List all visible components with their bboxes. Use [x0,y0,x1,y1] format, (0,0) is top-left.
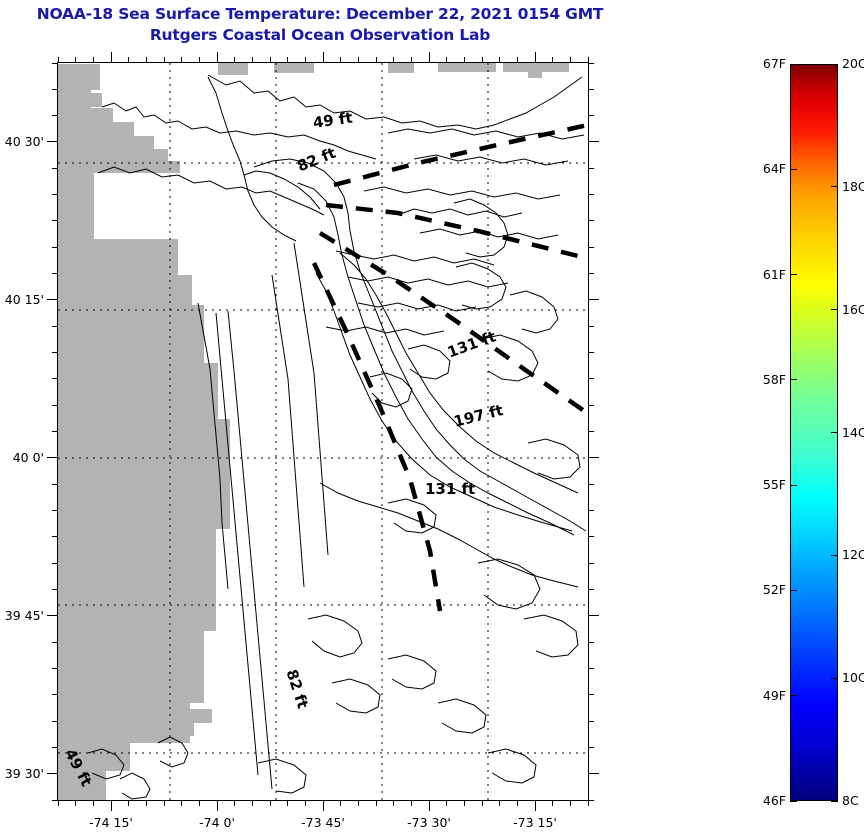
y-axis-right-tick [588,747,594,748]
x-axis-top-tick [270,57,271,63]
x-axis-top-tick [181,57,182,63]
y-axis-right-tick [588,220,594,221]
title-line-1: NOAA-18 Sea Surface Temperature: Decembe… [0,4,640,25]
y-axis-minor-tick [52,800,58,801]
y-axis-minor-tick [52,168,58,169]
x-axis-major-tick [323,800,324,811]
colorbar-celsius-tick [831,432,838,433]
y-axis-right-tick [588,115,594,116]
y-axis-right-tick [588,615,599,616]
x-axis-minor-tick [75,800,76,806]
y-axis-minor-tick [52,352,58,353]
y-axis-minor-tick [52,247,58,248]
x-axis-top-tick [393,57,394,63]
y-axis-minor-tick [52,115,58,116]
y-axis-minor-tick [52,273,58,274]
colorbar-fahrenheit-label: 55F [750,477,786,492]
x-axis-top-tick [570,57,571,63]
x-axis-top-tick [535,52,536,63]
y-axis-right-tick [588,536,594,537]
x-axis-minor-tick [446,800,447,806]
y-axis-minor-tick [52,220,58,221]
y-axis-right-tick [588,168,594,169]
y-axis-minor-tick [52,536,58,537]
y-axis-tick-label: 40 15' [0,292,44,307]
x-axis-minor-tick [411,800,412,806]
colorbar-fahrenheit-tick [790,274,797,275]
y-axis-right-tick [588,484,594,485]
y-axis-minor-tick [52,405,58,406]
colorbar-fahrenheit-tick [790,801,797,802]
x-axis-minor-tick [199,800,200,806]
y-axis-right-tick [588,668,594,669]
map-plot-area[interactable]: 49 ft 82 ft 131 ft 197 ft 131 ft 82 ft 4… [57,62,589,801]
x-axis-tick-label: -73 45' [278,815,368,830]
y-axis-minor-tick [52,668,58,669]
y-axis-minor-tick [52,89,58,90]
x-axis-top-tick [323,52,324,63]
x-axis-top-tick [376,57,377,63]
x-axis-minor-tick [376,800,377,806]
colorbar-celsius-label: 16C [842,302,864,317]
y-axis-major-tick [47,615,58,616]
x-axis-top-tick [164,57,165,63]
x-axis-minor-tick [393,800,394,806]
colorbar-celsius-tick [831,186,838,187]
colorbar-fahrenheit-label: 58F [750,372,786,387]
x-axis-minor-tick [552,800,553,806]
x-axis-top-tick [482,57,483,63]
x-axis-minor-tick [146,800,147,806]
y-axis-tick-label: 39 30' [0,766,44,781]
x-axis-tick-label: -74 0' [172,815,262,830]
colorbar-celsius-label: 14C [842,425,864,440]
y-axis-minor-tick [52,747,58,748]
y-axis-right-tick [588,378,594,379]
y-axis-right-tick [588,589,594,590]
x-axis-minor-tick [234,800,235,806]
y-axis-right-tick [588,457,599,458]
x-axis-minor-tick [128,800,129,806]
x-axis-top-tick [411,57,412,63]
y-axis-right-tick [588,563,594,564]
x-axis-top-tick [128,57,129,63]
colorbar-fahrenheit-tick [790,379,797,380]
y-axis-minor-tick [52,431,58,432]
y-axis-minor-tick [52,63,58,64]
x-axis-top-tick [252,57,253,63]
y-axis-right-tick [588,352,594,353]
x-axis-top-tick [358,57,359,63]
colorbar-fahrenheit-label: 49F [750,688,786,703]
y-axis-right-tick [588,194,594,195]
colorbar-fahrenheit-label: 64F [750,161,786,176]
x-axis-minor-tick [517,800,518,806]
y-axis-tick-label: 40 30' [0,134,44,149]
x-axis-top-tick [429,52,430,63]
y-axis-major-tick [47,457,58,458]
y-axis-major-tick [47,299,58,300]
y-axis-minor-tick [52,194,58,195]
y-axis-right-tick [588,800,594,801]
map-coastline-and-contours [58,63,588,800]
x-axis-top-tick [199,57,200,63]
y-axis-minor-tick [52,694,58,695]
x-axis-minor-tick [270,800,271,806]
y-axis-right-tick [588,510,594,511]
x-axis-top-tick [340,57,341,63]
x-axis-top-tick [305,57,306,63]
y-axis-right-tick [588,89,594,90]
x-axis-minor-tick [340,800,341,806]
y-axis-minor-tick [52,721,58,722]
y-axis-tick-label: 40 0' [0,450,44,465]
x-axis-top-tick [234,57,235,63]
x-axis-minor-tick [588,800,589,806]
y-axis-right-tick [588,773,599,774]
colorbar-celsius-label: 20C [842,56,864,71]
colorbar-celsius-label: 18C [842,179,864,194]
colorbar-celsius-tick [831,678,838,679]
x-axis-minor-tick [93,800,94,806]
y-axis-right-tick [588,63,594,64]
x-axis-tick-label: -74 15' [66,815,156,830]
x-axis-top-tick [287,57,288,63]
colorbar-fahrenheit-tick [790,169,797,170]
colorbar-fahrenheit-tick [790,695,797,696]
colorbar-celsius-tick [831,801,838,802]
x-axis-minor-tick [482,800,483,806]
x-axis-top-tick [499,57,500,63]
y-axis-minor-tick [52,484,58,485]
y-axis-minor-tick [52,642,58,643]
y-axis-right-tick [588,141,599,142]
x-axis-minor-tick [358,800,359,806]
colorbar-fahrenheit-label: 52F [750,582,786,597]
y-axis-right-tick [588,694,594,695]
colorbar-celsius-label: 12C [842,547,864,562]
x-axis-top-tick [111,52,112,63]
colorbar-celsius-tick [831,555,838,556]
y-axis-right-tick [588,405,594,406]
colorbar-fahrenheit-tick [790,590,797,591]
x-axis-minor-tick [499,800,500,806]
y-axis-major-tick [47,773,58,774]
colorbar-fahrenheit-label: 67F [750,56,786,71]
x-axis-top-tick [552,57,553,63]
y-axis-right-tick [588,247,594,248]
colorbar-fahrenheit-tick [790,64,797,65]
colorbar-celsius-tick [831,64,838,65]
y-axis-right-tick [588,273,594,274]
colorbar-fahrenheit-label: 46F [750,793,786,808]
y-axis-tick-label: 39 45' [0,608,44,623]
x-axis-major-tick [111,800,112,811]
colorbar-celsius-label: 10C [842,670,864,685]
colorbar-fahrenheit-label: 61F [750,267,786,282]
y-axis-right-tick [588,642,594,643]
x-axis-top-tick [446,57,447,63]
title-line-2: Rutgers Coastal Ocean Observation Lab [0,25,640,46]
x-axis-minor-tick [570,800,571,806]
y-axis-minor-tick [52,563,58,564]
y-axis-minor-tick [52,510,58,511]
x-axis-minor-tick [58,800,59,806]
x-axis-major-tick [217,800,218,811]
y-axis-right-tick [588,326,594,327]
y-axis-right-tick [588,431,594,432]
y-axis-minor-tick [52,326,58,327]
colorbar-fahrenheit-tick [790,485,797,486]
colorbar-celsius-label: 8C [842,793,859,808]
colorbar-celsius-tick [831,309,838,310]
x-axis-tick-label: -73 15' [490,815,580,830]
x-axis-top-tick [146,57,147,63]
x-axis-minor-tick [181,800,182,806]
x-axis-minor-tick [305,800,306,806]
y-axis-right-tick [588,299,599,300]
y-axis-minor-tick [52,589,58,590]
y-axis-right-tick [588,721,594,722]
x-axis-top-tick [75,57,76,63]
depth-annotation: 131 ft [425,480,475,498]
chart-title: NOAA-18 Sea Surface Temperature: Decembe… [0,4,640,46]
y-axis-minor-tick [52,378,58,379]
x-axis-top-tick [93,57,94,63]
x-axis-top-tick [217,52,218,63]
x-axis-minor-tick [164,800,165,806]
x-axis-major-tick [535,800,536,811]
x-axis-tick-label: -73 30' [384,815,474,830]
x-axis-minor-tick [252,800,253,806]
x-axis-top-tick [464,57,465,63]
x-axis-major-tick [429,800,430,811]
y-axis-major-tick [47,141,58,142]
x-axis-minor-tick [464,800,465,806]
x-axis-top-tick [517,57,518,63]
x-axis-minor-tick [287,800,288,806]
